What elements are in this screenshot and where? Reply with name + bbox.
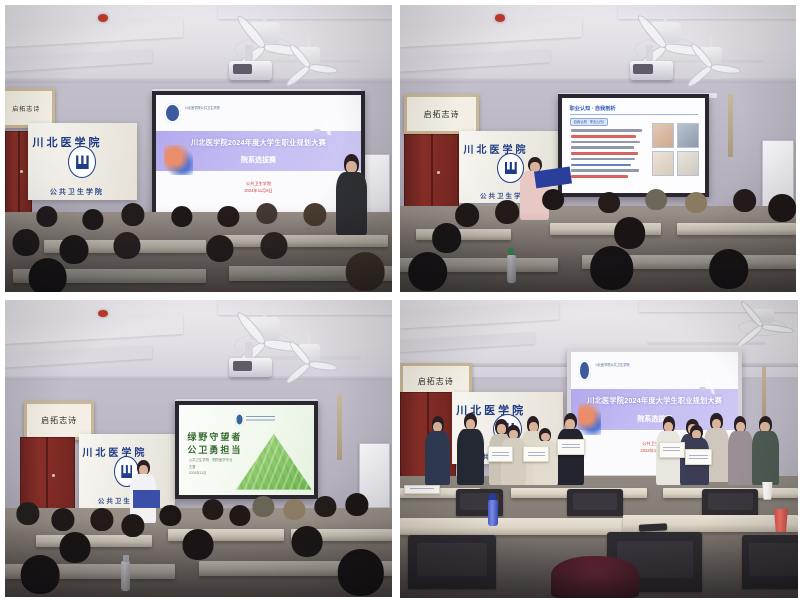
photo-top-right[interactable]: 启拓志诗 川北医学院 公共卫生学院 职业认知 · 自我剖析 自我认知 · 职业认… — [396, 0, 800, 296]
calligraphy-frame: 启拓志诗 — [404, 94, 479, 134]
ceiling-projector — [229, 61, 272, 80]
photo-collage: 启拓志诗 川北医学院 公共卫生学院 川北医学院公共卫生学院 — [0, 0, 800, 600]
projection-screen: 职业认知 · 自我剖析 自我认知 · 职业认知 — [558, 94, 708, 197]
projection-screen-surface: 职业认知 · 自我剖析 自我认知 · 职业认知 — [562, 98, 704, 193]
slide-decoration — [697, 379, 727, 394]
slide-footer-org: 公共卫生学院 — [156, 180, 361, 187]
calligraphy-text: 启拓志诗 — [41, 415, 77, 426]
slide-title-layout: 川北医学院公共卫生学院 川北医学院2024年度大学生职业规划大赛 院系选拔赛 公… — [156, 95, 361, 213]
foreground-shadow — [400, 212, 796, 292]
event-banner: 川北医学院 公共卫生学院 — [79, 434, 176, 508]
award-certificate — [488, 446, 514, 462]
photo-bottom-left-scene: 启拓志诗 川北医学院 公共卫生学院 绿野守望者 — [5, 300, 392, 597]
slide-thumbnails — [652, 123, 699, 176]
banner-school-name: 川北医学院 — [33, 134, 103, 150]
projection-screen: 川北医学院公共卫生学院 川北医学院2024年度大学生职业规划大赛 院系选拔赛 公… — [152, 91, 365, 217]
ceiling-edge — [5, 376, 392, 381]
smoke-detector-icon — [98, 14, 108, 21]
slide-header-org: 川北医学院公共卫生学院 — [185, 106, 267, 111]
slide-decoration — [310, 121, 347, 135]
foreground-shadow — [5, 206, 392, 292]
ceiling-fan — [284, 37, 334, 86]
slide-logo-icon — [164, 103, 180, 123]
slide-logo-icon — [235, 413, 244, 426]
slide-title-line2: 公卫勇担当 — [187, 443, 242, 456]
school-emblem-icon — [68, 146, 96, 179]
group-person — [750, 416, 780, 485]
ceiling-rail — [647, 342, 766, 346]
water-bottle — [488, 500, 498, 527]
photo-bottom-right[interactable]: 启拓志诗 川北医学院 公共卫生学院 川北医学院公共卫生学院 — [396, 296, 800, 600]
calligraphy-text: 启拓志诗 — [418, 376, 454, 387]
slide-subtitle-line3: 2024年11月 — [189, 470, 233, 476]
slide-subtitle: 院系选拔赛 — [160, 155, 357, 165]
slide-main-title: 川北医学院2024年度大学生职业规划大赛 — [574, 396, 734, 406]
slide-subtitle-line1: 公共卫生学院 · 预防医学专业 — [189, 457, 233, 463]
slide-green-layout: 绿野守望者 公卫勇担当 公共卫生学院 · 预防医学专业 王雪 2024年11月 — [179, 405, 314, 495]
banner-college-name: 公共卫生学院 — [50, 187, 104, 197]
photo-bottom-right-scene: 启拓志诗 川北医学院 公共卫生学院 川北医学院公共卫生学院 — [400, 300, 798, 598]
mobile-phone — [639, 523, 667, 531]
award-certificate — [557, 439, 585, 455]
projection-screen: 绿野守望者 公卫勇担当 公共卫生学院 · 预防医学专业 王雪 2024年11月 — [175, 401, 318, 499]
projection-screen-surface: 绿野守望者 公卫勇担当 公共卫生学院 · 预防医学专业 王雪 2024年11月 — [179, 405, 314, 495]
slide-mountain-graphic — [236, 434, 312, 490]
photo-top-right-scene: 启拓志诗 川北医学院 公共卫生学院 职业认知 · 自我剖析 自我认知 · 职业认… — [400, 5, 796, 292]
ceiling-edge — [5, 78, 392, 83]
award-certificate — [685, 449, 713, 465]
ceiling-projector — [630, 61, 674, 80]
calligraphy-text: 启拓志诗 — [424, 109, 460, 120]
event-banner: 川北医学院 公共卫生学院 — [28, 123, 136, 200]
slide-tag: 自我认知 · 职业认知 — [570, 118, 608, 126]
slide-logo-icon — [578, 360, 591, 381]
group-person — [456, 413, 486, 485]
award-certificate — [523, 446, 549, 462]
award-certificate — [659, 442, 685, 458]
smoke-detector-icon — [98, 310, 108, 318]
presenter-folder — [133, 490, 160, 508]
photo-top-left[interactable]: 启拓志诗 川北医学院 公共卫生学院 川北医学院公共卫生学院 — [0, 0, 396, 296]
slide-header-org: 川北医学院公共卫生学院 — [595, 363, 662, 368]
classroom-chair — [567, 489, 623, 516]
ceiling-fan — [734, 300, 790, 342]
banner-school-name: 川北医学院 — [464, 141, 529, 156]
banner-school-name: 川北医学院 — [82, 444, 147, 459]
wall-trim — [337, 395, 342, 460]
group-person — [424, 416, 452, 485]
calligraphy-text: 启拓志诗 — [12, 104, 40, 113]
slide-heading: 职业认知 · 自我剖析 — [570, 105, 616, 112]
foreground-shadow — [400, 532, 798, 598]
ceiling-edge — [400, 78, 796, 83]
ceiling-fan — [284, 333, 334, 383]
slide-content-layout: 职业认知 · 自我剖析 自我认知 · 职业认知 — [562, 98, 704, 193]
slide-bullet-lines — [571, 129, 642, 180]
wall-trim — [728, 94, 733, 157]
photo-bottom-left[interactable]: 启拓志诗 川北医学院 公共卫生学院 绿野守望者 — [0, 296, 396, 600]
ceiling-fan — [685, 37, 736, 86]
classroom-door — [404, 134, 459, 211]
smoke-detector-icon — [495, 14, 505, 21]
slide-footer-date: 2024年11月8日 — [156, 187, 361, 194]
photo-top-left-scene: 启拓志诗 川北医学院 公共卫生学院 川北医学院公共卫生学院 — [5, 5, 392, 292]
slide-main-title: 川北医学院2024年度大学生职业规划大赛 — [160, 138, 357, 148]
foreground-shadow — [5, 520, 392, 597]
paper-sheet — [404, 485, 440, 494]
projection-screen-surface: 川北医学院公共卫生学院 川北医学院2024年度大学生职业规划大赛 院系选拔赛 公… — [156, 95, 361, 213]
slide-divider — [570, 114, 698, 115]
classroom-chair — [702, 489, 758, 516]
ceiling-projector — [229, 358, 272, 377]
slide-logo-text — [246, 416, 276, 423]
slide-title-line1: 绿野守望者 — [187, 430, 242, 443]
